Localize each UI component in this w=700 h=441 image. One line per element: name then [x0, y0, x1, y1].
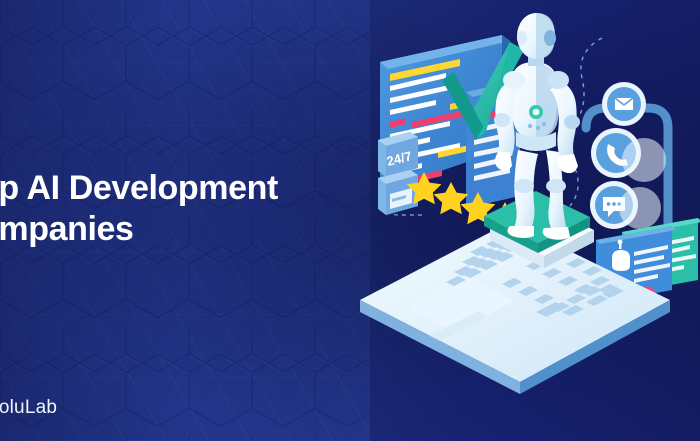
brand-logo: SoluLab: [0, 397, 57, 419]
badge-card: [378, 170, 418, 215]
star-icon: [434, 182, 469, 214]
decorative-blobs: [619, 138, 666, 229]
page-title: op AI Development ompanies: [0, 168, 378, 251]
hero-illustration: 24/7: [350, 0, 700, 441]
banner-image: 24/7: [0, 0, 700, 441]
mail-icon: [602, 82, 646, 126]
